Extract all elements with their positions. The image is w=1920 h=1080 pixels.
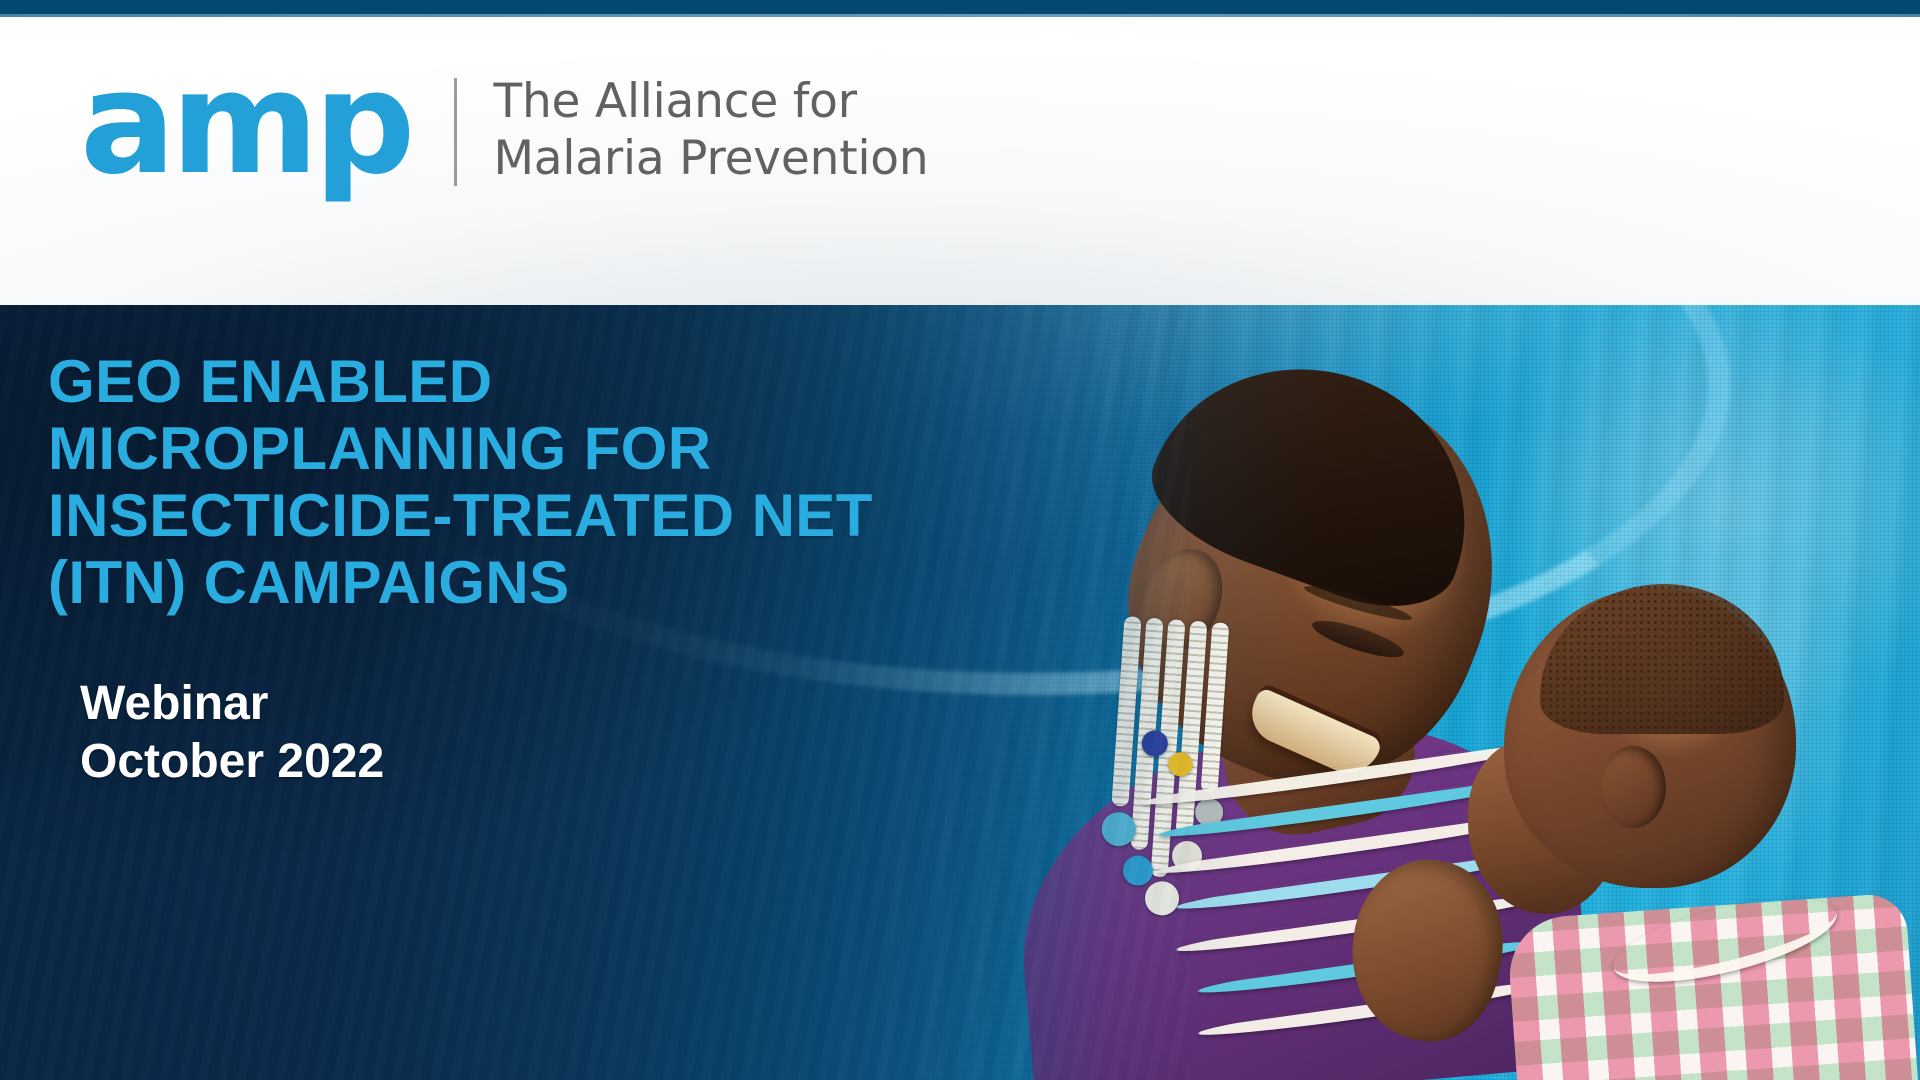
- event-date-label: October 2022: [80, 733, 384, 791]
- amp-tagline: The Alliance for Malaria Prevention: [493, 73, 928, 188]
- amp-tagline-line-2: Malaria Prevention: [493, 131, 928, 186]
- top-accent-bar: [0, 0, 1920, 14]
- amp-logo: amp The Alliance for Malaria Prevention: [80, 69, 928, 191]
- event-type-label: Webinar: [80, 675, 384, 733]
- slide-title-line-1: GEO ENABLED: [48, 349, 928, 416]
- amp-tagline-line-1: The Alliance for: [493, 74, 856, 129]
- slide-title-line-2: MICROPLANNING FOR: [48, 416, 928, 483]
- amp-wordmark: amp: [80, 63, 410, 185]
- subtitle-block: Webinar October 2022: [80, 675, 384, 790]
- vertical-divider-icon: [454, 78, 457, 186]
- title-block: GEO ENABLED MICROPLANNING FOR INSECTICID…: [48, 349, 928, 617]
- slide-title-line-3: INSECTICIDE-TREATED NET: [48, 483, 928, 550]
- title-slide: amp The Alliance for Malaria Prevention: [0, 0, 1920, 1080]
- slide-title: GEO ENABLED MICROPLANNING FOR INSECTICID…: [48, 349, 928, 617]
- slide-title-line-4: (ITN) CAMPAIGNS: [48, 550, 928, 617]
- hero-photo: GEO ENABLED MICROPLANNING FOR INSECTICID…: [0, 305, 1920, 1080]
- slide-header: amp The Alliance for Malaria Prevention: [0, 17, 1920, 305]
